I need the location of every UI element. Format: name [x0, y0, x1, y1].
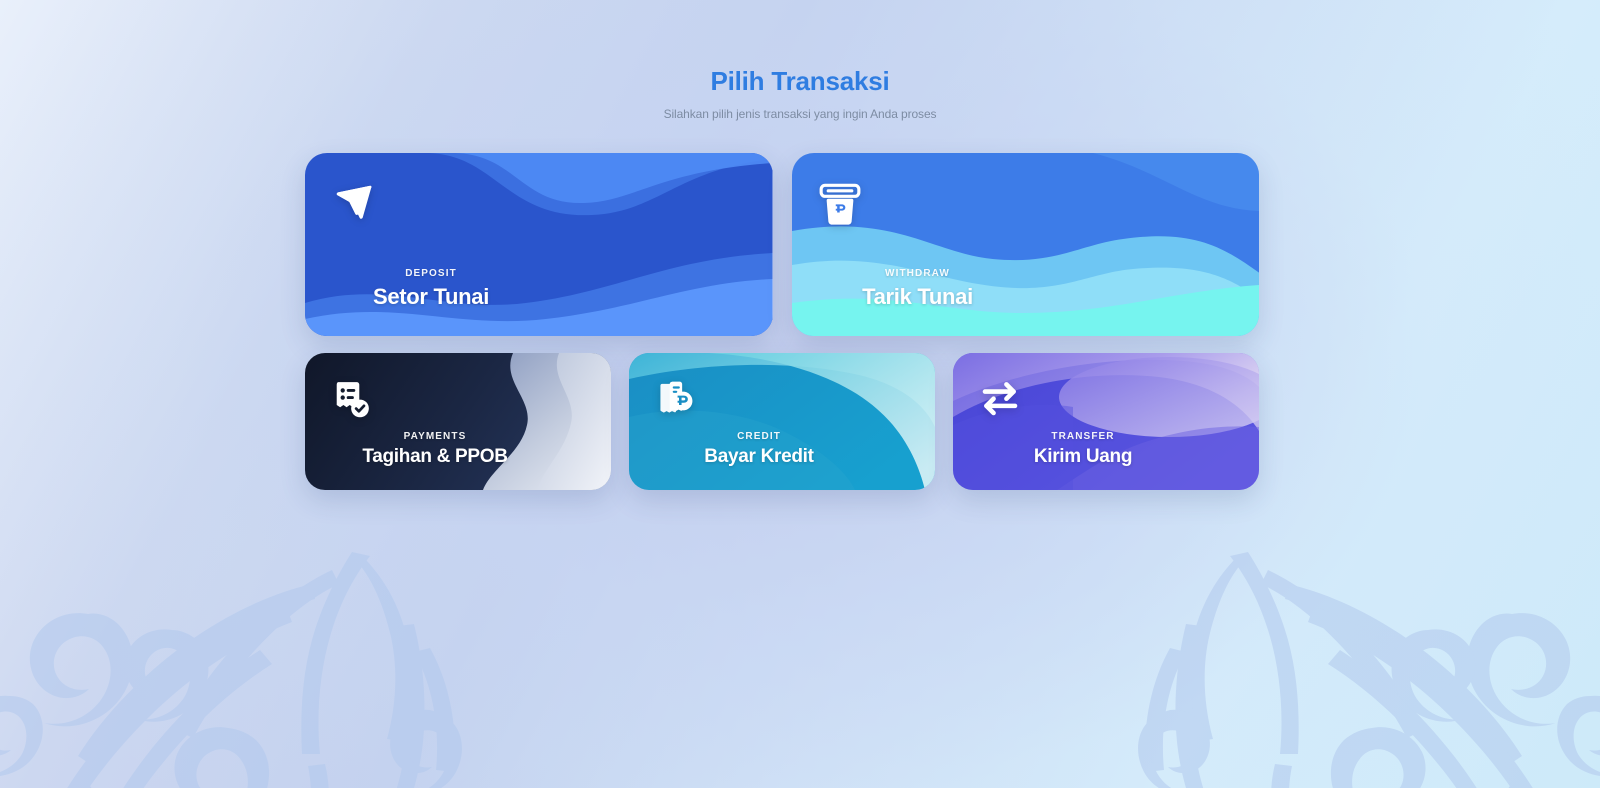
card-kicker-transfer: TRANSFER [977, 431, 1189, 442]
card-title-credit: Bayar Kredit [653, 446, 865, 468]
card-kicker-withdraw: WITHDRAW [818, 268, 1018, 279]
transaction-card-credit[interactable]: CREDIT Bayar Kredit [629, 353, 935, 490]
transaction-card-deposit[interactable]: DEPOSIT Setor Tunai [305, 153, 773, 336]
card-row-primary: DEPOSIT Setor Tunai [305, 153, 1259, 336]
card-background-credit [629, 353, 935, 490]
card-background-transfer [953, 353, 1259, 490]
card-title-deposit: Setor Tunai [331, 284, 531, 310]
transaction-card-grid: DEPOSIT Setor Tunai [305, 153, 1259, 490]
transaction-card-payments[interactable]: PAYMENTS Tagihan & PPOB [305, 353, 611, 490]
card-title-transfer: Kirim Uang [977, 446, 1189, 468]
page-title: Pilih Transaksi [0, 66, 1600, 97]
card-kicker-payments: PAYMENTS [329, 431, 541, 442]
card-row-secondary: PAYMENTS Tagihan & PPOB [305, 353, 1259, 490]
receipt-check-icon [332, 379, 370, 419]
page-subtitle: Silahkan pilih jenis transaksi yang ingi… [0, 107, 1600, 121]
send-plane-icon [332, 183, 376, 227]
card-text-credit: CREDIT Bayar Kredit [653, 431, 865, 468]
transfer-arrows-icon [980, 379, 1020, 417]
card-title-withdraw: Tarik Tunai [818, 284, 1018, 310]
card-text-transfer: TRANSFER Kirim Uang [977, 431, 1189, 468]
card-kicker-deposit: DEPOSIT [331, 268, 531, 279]
card-text-payments: PAYMENTS Tagihan & PPOB [329, 431, 541, 468]
transaction-card-withdraw[interactable]: WITHDRAW Tarik Tunai [792, 153, 1260, 336]
transaction-card-transfer[interactable]: TRANSFER Kirim Uang [953, 353, 1259, 490]
card-background-payments [305, 353, 611, 490]
invoice-rupiah-icon [656, 379, 694, 419]
card-text-deposit: DEPOSIT Setor Tunai [331, 268, 531, 310]
atm-cash-icon [819, 183, 861, 227]
card-text-withdraw: WITHDRAW Tarik Tunai [818, 268, 1018, 310]
page-header: Pilih Transaksi Silahkan pilih jenis tra… [0, 66, 1600, 121]
card-kicker-credit: CREDIT [653, 431, 865, 442]
ornament-bottom-right [1120, 518, 1600, 788]
ornament-bottom-left [0, 518, 480, 788]
card-title-payments: Tagihan & PPOB [329, 446, 541, 468]
